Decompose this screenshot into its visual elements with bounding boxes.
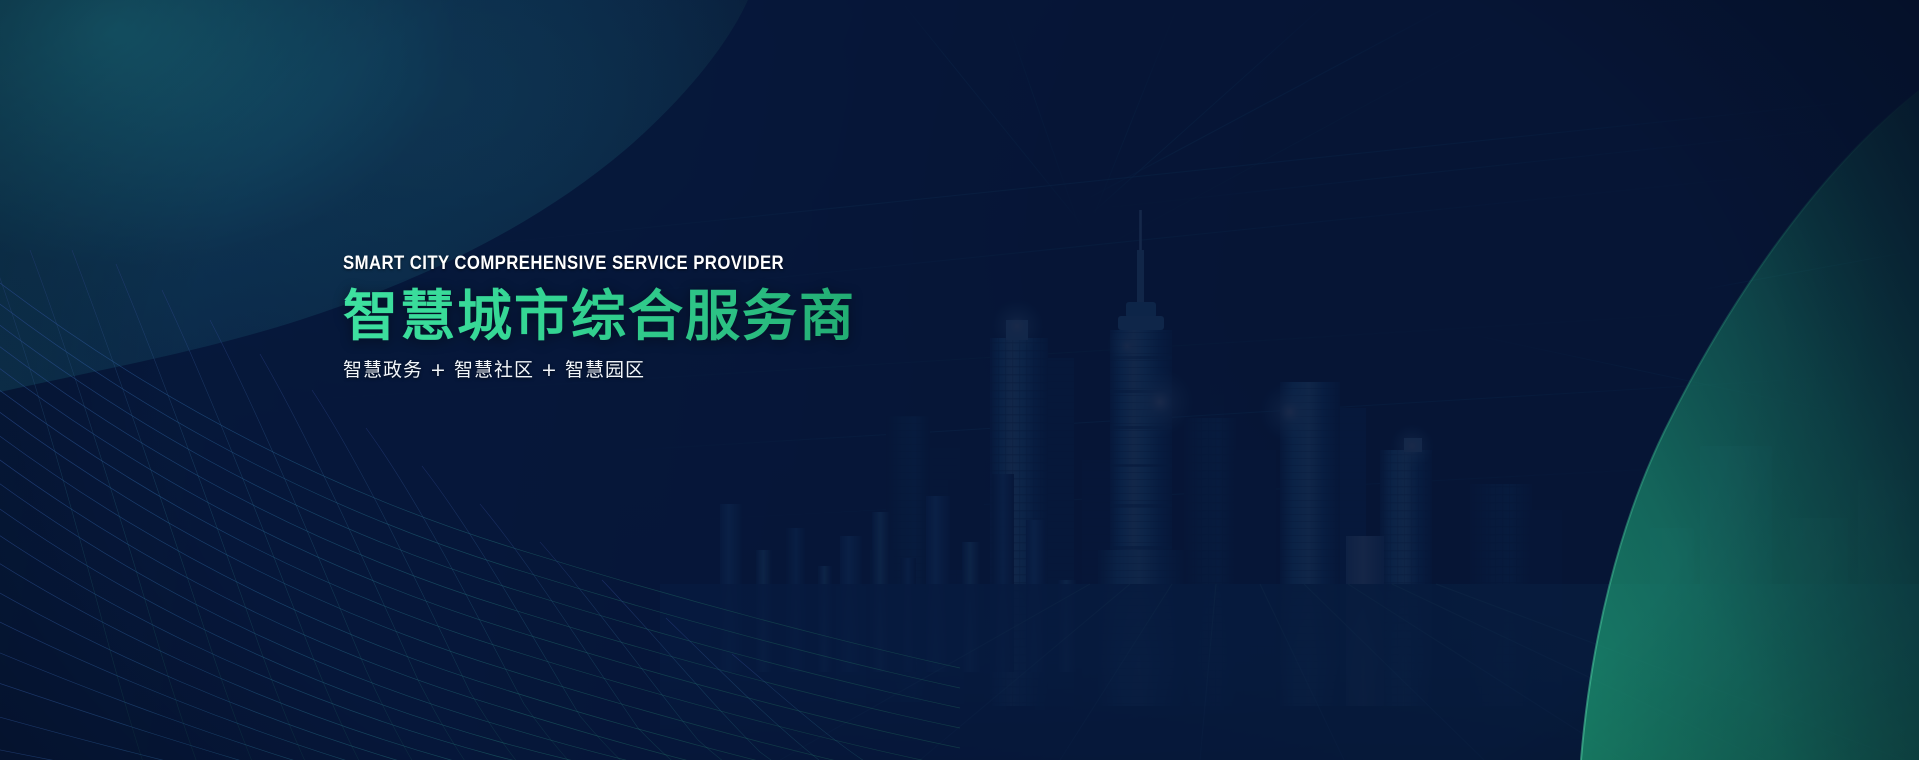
green-curved-overlay bbox=[1299, 0, 1919, 760]
subtitle-services: 智慧政务 + 智慧社区 + 智慧园区 bbox=[343, 361, 963, 380]
hero-banner: SMART CITY COMPREHENSIVE SERVICE PROVIDE… bbox=[0, 0, 1919, 760]
hero-text-block: SMART CITY COMPREHENSIVE SERVICE PROVIDE… bbox=[343, 254, 963, 380]
eyebrow-tagline: SMART CITY COMPREHENSIVE SERVICE PROVIDE… bbox=[343, 254, 889, 273]
page-title: 智慧城市综合服务商 bbox=[343, 287, 963, 346]
